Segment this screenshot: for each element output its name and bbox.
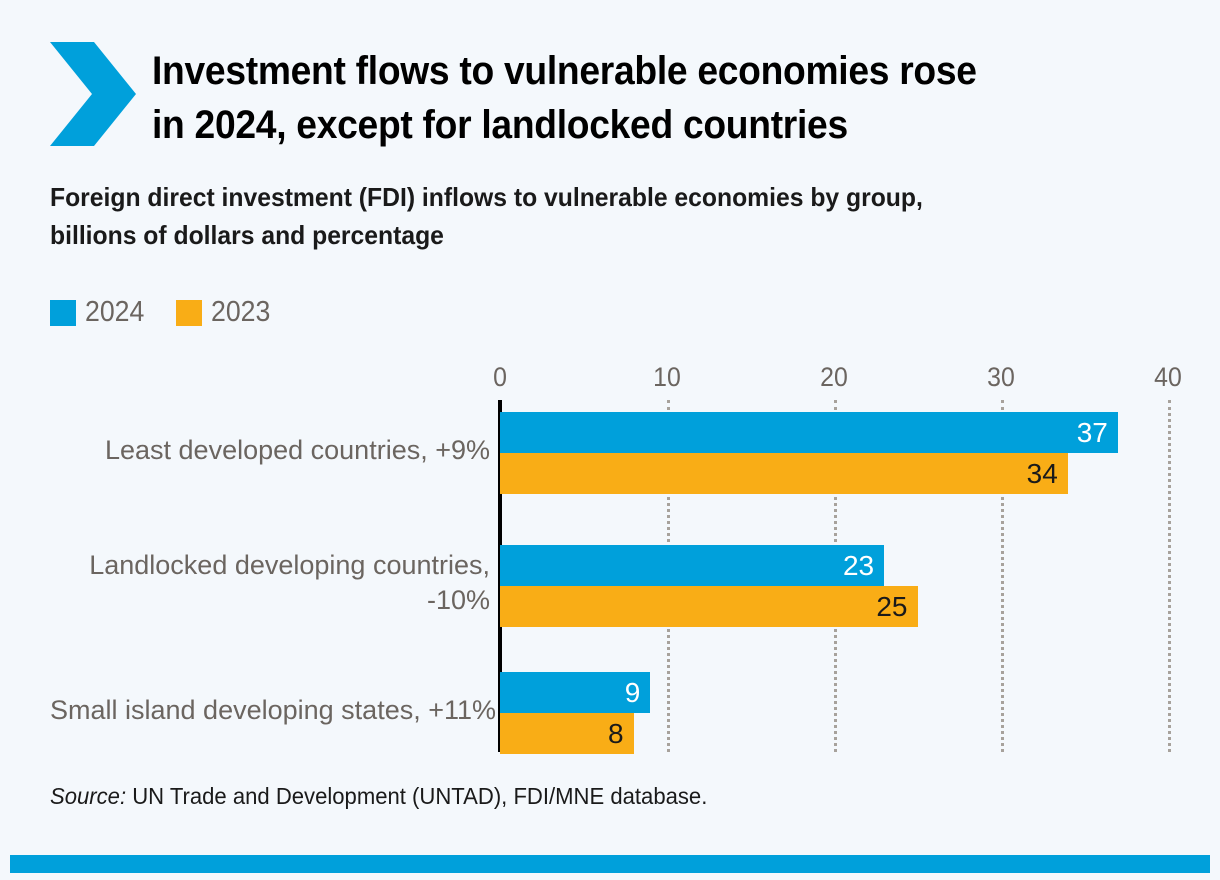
bar-value-2023-1: 25 (872, 586, 908, 627)
bar-2024-1[interactable] (500, 545, 884, 586)
category-label-1-line-1: -10% (50, 583, 490, 618)
footer-accent-bar (10, 855, 1210, 873)
source-note: Source: UN Trade and Development (UNTAD)… (50, 783, 707, 810)
bar-2023-1[interactable] (500, 586, 918, 627)
bar-value-2023-0: 34 (1022, 453, 1058, 494)
x-tick-label-10: 10 (653, 362, 681, 393)
category-label-0: Least developed countries, +9% (50, 433, 490, 468)
bar-chart-plot: 010203040 Least developed countries, +9%… (0, 0, 1220, 880)
bar-2023-0[interactable] (500, 453, 1068, 494)
x-tick-label-30: 30 (987, 362, 1015, 393)
x-tick-label-20: 20 (820, 362, 848, 393)
bar-value-2023-2: 8 (588, 713, 624, 754)
category-label-0-line-0: Least developed countries, +9% (50, 433, 490, 468)
bar-2024-0[interactable] (500, 412, 1118, 453)
category-label-1: Landlocked developing countries,-10% (50, 548, 490, 618)
category-label-2: Small island developing states, +11% (50, 693, 490, 728)
category-label-1-line-0: Landlocked developing countries, (50, 548, 490, 583)
gridline-40 (1168, 400, 1171, 752)
source-text: UN Trade and Development (UNTAD), FDI/MN… (126, 783, 707, 809)
bar-value-2024-0: 37 (1072, 412, 1108, 453)
x-tick-label-0: 0 (493, 362, 507, 393)
category-label-2-line-0: Small island developing states, +11% (50, 693, 490, 728)
source-prefix: Source: (50, 783, 126, 809)
x-tick-label-40: 40 (1154, 362, 1182, 393)
bar-value-2024-1: 23 (838, 545, 874, 586)
bar-value-2024-2: 9 (604, 672, 640, 713)
